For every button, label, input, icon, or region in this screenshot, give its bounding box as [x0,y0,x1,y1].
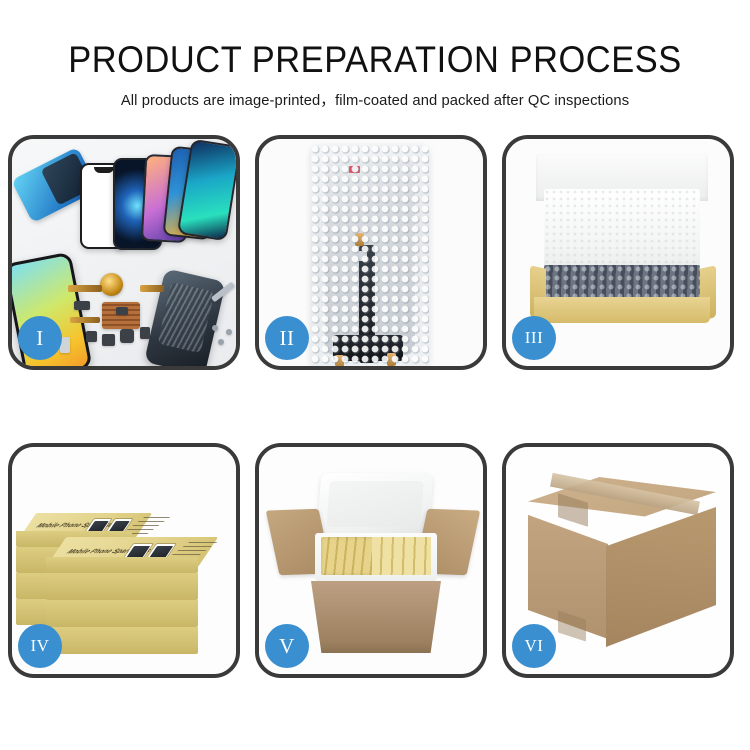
small-part-icon [102,334,115,346]
box-side-face [46,573,198,600]
screw-icon [212,325,218,331]
stacked-box: Mobile Phone Spare Parts [46,537,198,573]
process-step-2: II [255,135,487,370]
carton-right-face [606,507,716,647]
step-badge-6: VI [512,624,556,668]
box-side-face [46,600,198,627]
box-side-face [46,557,198,573]
step-badge-3: III [512,316,556,360]
stacked-box [46,573,198,600]
carton-body [311,581,441,653]
process-step-6: VI [502,443,734,678]
small-part-icon [116,307,128,315]
page-subtitle: All products are image-printed，film-coat… [11,82,739,111]
step-badge-4: IV [18,624,62,668]
step-badge-2: II [265,316,309,360]
step-badge-5: V [265,624,309,668]
process-step-grid: I II [8,135,742,684]
small-part-icon [140,327,150,339]
flex-cable-icon [70,317,100,323]
flex-cable-icon [140,285,164,292]
bubble-texture [311,145,429,366]
phone-back-housing-icon [144,268,226,366]
small-part-icon [86,331,97,342]
stacked-box [46,600,198,627]
process-step-5: V [255,443,487,678]
foam-lid [317,473,433,537]
retail-boxes-inside [321,537,431,575]
screw-icon [218,339,224,345]
box-side-face [46,627,198,654]
process-step-3: III [502,135,734,370]
flex-cable-icon [68,285,102,292]
page-title: PRODUCT PREPARATION PROCESS [26,0,724,82]
foam-sheet [544,189,700,277]
small-part-icon [74,301,90,310]
process-step-4: Mobile Phone Spare Parts [8,443,240,678]
stacked-box [46,627,198,654]
header: PRODUCT PREPARATION PROCESS All products… [0,0,750,111]
small-part-icon [120,329,134,343]
screw-icon [226,329,232,335]
box-front-panel [534,297,710,323]
speaker-coil-icon [100,273,123,296]
step-badge-1: I [18,316,62,360]
product-preparation-infographic: PRODUCT PREPARATION PROCESS All products… [0,0,750,750]
process-step-1: I [8,135,240,370]
bubble-wrap-bag [311,145,429,366]
